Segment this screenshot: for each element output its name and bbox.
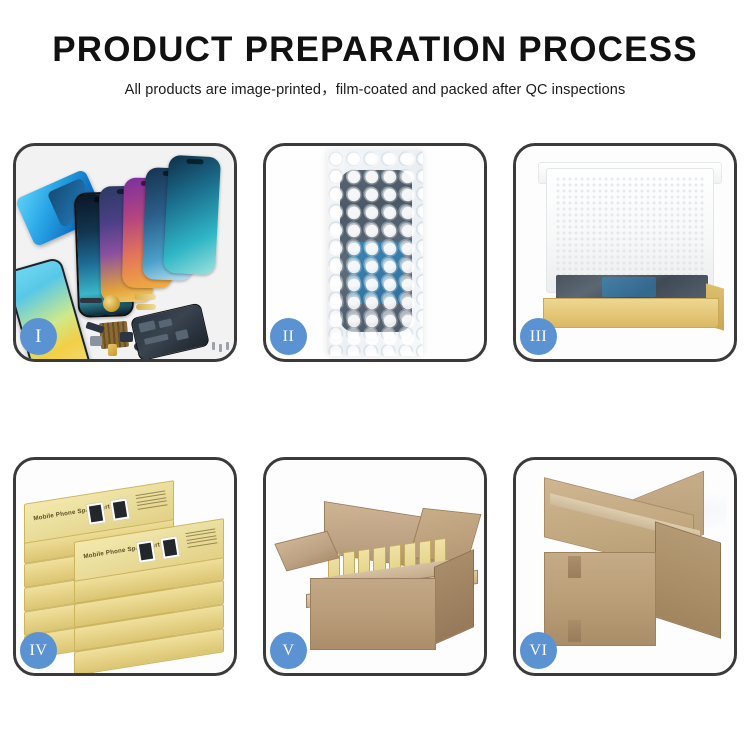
process-step-panel-3[interactable]: III	[513, 143, 737, 362]
coil-part-icon	[103, 295, 120, 312]
carton-tape-front-lower-icon	[568, 620, 581, 642]
infographic-page: PRODUCT PREPARATION PROCESS All products…	[0, 0, 750, 750]
flex-cable-icon-a	[134, 294, 156, 300]
kraft-box-front-icon	[543, 298, 719, 328]
process-step-panel-2[interactable]: II	[263, 143, 487, 362]
process-step-grid: I II	[13, 143, 737, 676]
page-title: PRODUCT PREPARATION PROCESS	[0, 32, 750, 69]
flex-cable-icon-b	[136, 304, 156, 310]
process-step-panel-5[interactable]: V	[263, 457, 487, 676]
bubble-wrap-bag-icon	[327, 150, 423, 356]
small-part-icon-a	[80, 298, 102, 303]
phone-icon-1	[163, 155, 221, 276]
screws-icon	[212, 342, 234, 356]
step-badge-2: II	[270, 318, 307, 355]
step-badge-5: V	[270, 632, 307, 669]
page-subtitle: All products are image-printed，film-coat…	[0, 78, 750, 99]
step-badge-1: I	[20, 318, 57, 355]
step-badge-6: VI	[520, 632, 557, 669]
step-badge-3: III	[520, 318, 557, 355]
process-step-panel-6[interactable]: VI	[513, 457, 737, 676]
process-step-panel-4[interactable]: Mobile Phone Spare Parts Mobile Phone Sp…	[13, 457, 237, 676]
sealed-carton-front-icon	[544, 552, 656, 646]
step-badge-4: IV	[20, 632, 57, 669]
small-part-icon-d	[120, 332, 133, 342]
header: PRODUCT PREPARATION PROCESS All products…	[0, 0, 750, 99]
small-part-icon-c	[90, 336, 102, 346]
process-step-panel-1[interactable]: I	[13, 143, 237, 362]
motherboard-icon	[130, 302, 210, 359]
small-part-icon-f	[108, 344, 117, 356]
carton-tape-front-upper-icon	[568, 556, 581, 578]
carton-front-icon	[310, 578, 436, 650]
